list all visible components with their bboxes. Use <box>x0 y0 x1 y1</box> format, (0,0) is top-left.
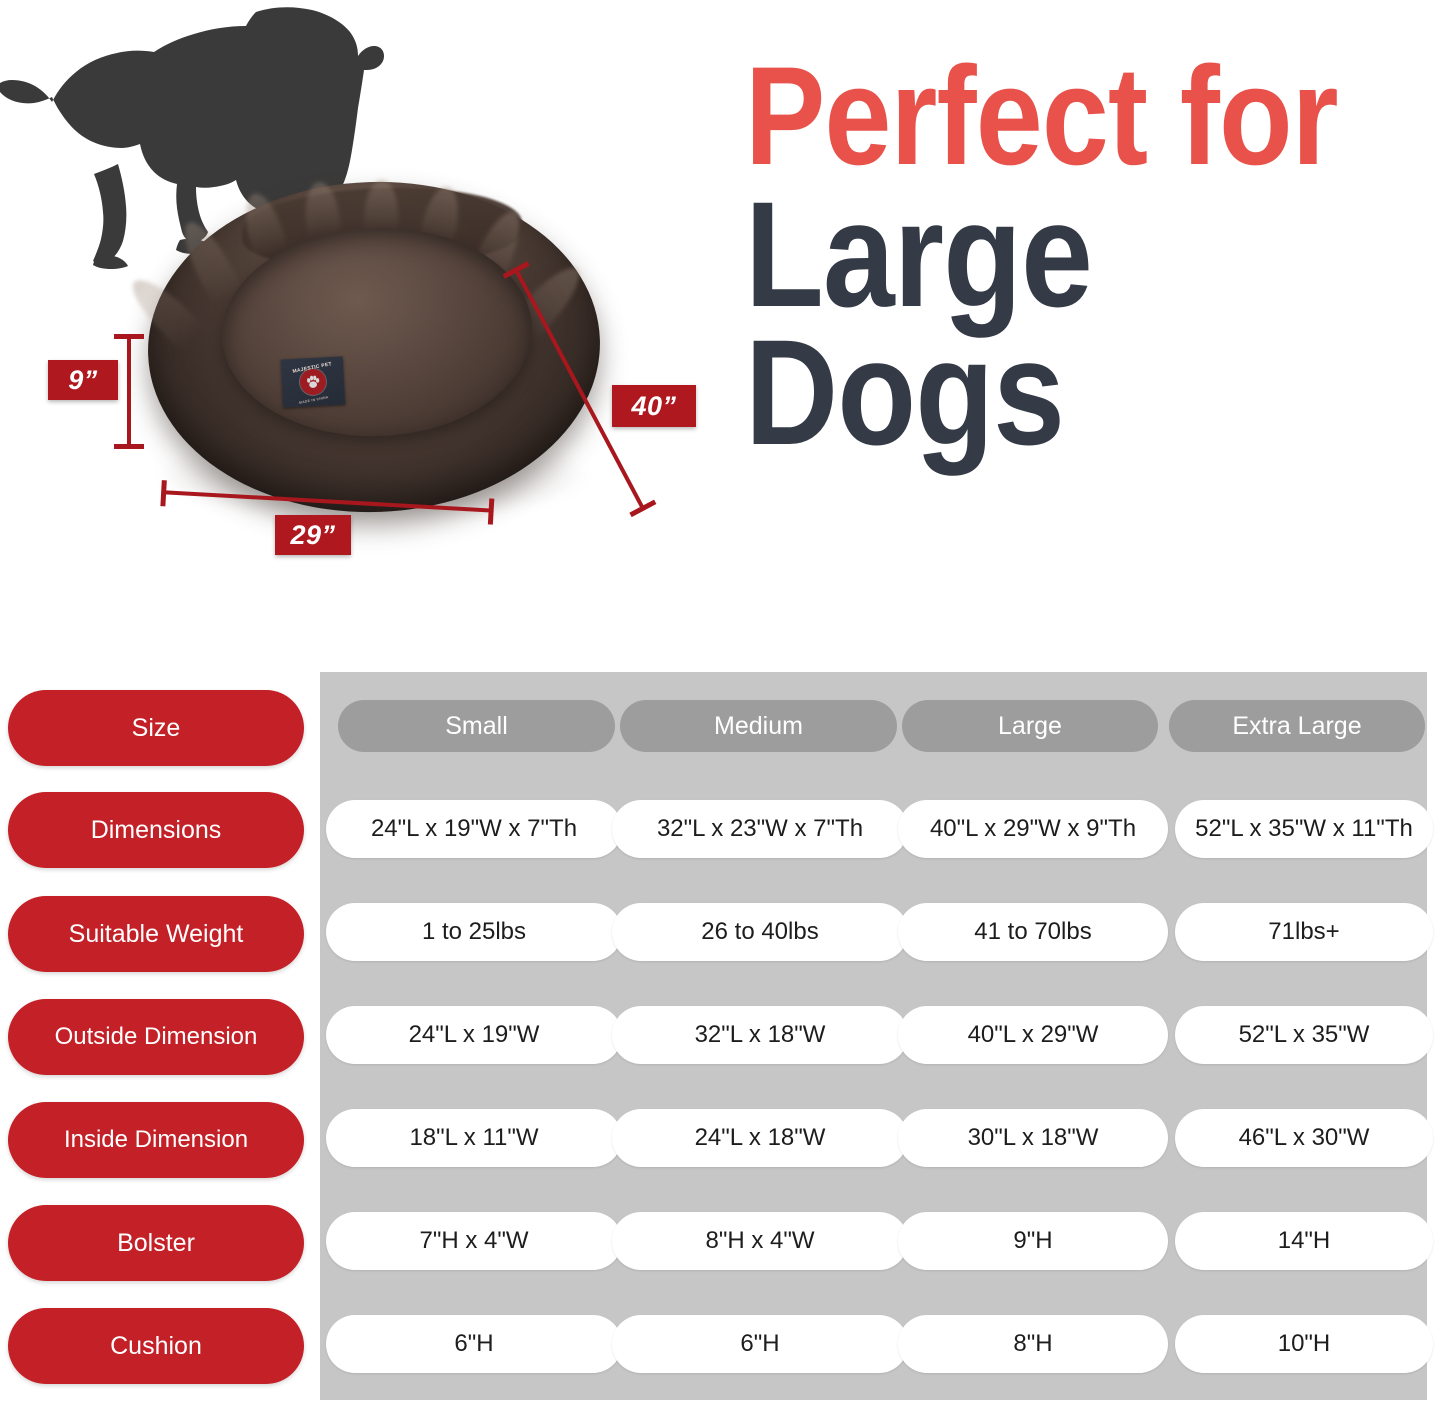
row-label-size: Size <box>8 690 304 766</box>
cell-weight-medium: 26 to 40lbs <box>612 903 908 961</box>
row-label-dimensions: Dimensions <box>8 792 304 868</box>
row-label-outside-dimension: Outside Dimension <box>8 999 304 1075</box>
cell-dimensions-extra-large: 52"L x 35"W x 11"Th <box>1175 800 1433 858</box>
cell-inside-small: 18"L x 11"W <box>326 1109 622 1167</box>
cell-weight-small: 1 to 25lbs <box>326 903 622 961</box>
cell-cushion-extra-large: 10"H <box>1175 1315 1433 1373</box>
headline-line-1: Perfect for <box>745 52 1347 181</box>
table-header-row: Small Medium Large Extra Large <box>320 700 1427 760</box>
cell-bolster-large: 9"H <box>898 1212 1168 1270</box>
length-dimension-label: 40” <box>612 385 696 427</box>
cell-cushion-small: 6"H <box>326 1315 622 1373</box>
column-header-small: Small <box>338 700 615 752</box>
row-label-column: Size Dimensions Suitable Weight Outside … <box>0 672 320 1400</box>
row-label-inside-dimension: Inside Dimension <box>8 1102 304 1178</box>
table-row: 24"L x 19"W 32"L x 18"W 40"L x 29"W 52"L… <box>320 1006 1427 1066</box>
row-label-bolster: Bolster <box>8 1205 304 1281</box>
table-row: 6"H 6"H 8"H 10"H <box>320 1315 1427 1375</box>
row-label-suitable-weight: Suitable Weight <box>8 896 304 972</box>
height-dimension-cap-top <box>114 334 144 339</box>
table-row: 7"H x 4"W 8"H x 4"W 9"H 14"H <box>320 1212 1427 1272</box>
brand-tag: MAJESTIC PET MADE IN CHINA <box>281 356 345 407</box>
width-dimension-label: 29” <box>275 515 351 555</box>
cell-dimensions-small: 24"L x 19"W x 7"Th <box>326 800 622 858</box>
cell-outside-extra-large: 52"L x 35"W <box>1175 1006 1433 1064</box>
width-dimension-line <box>163 490 493 512</box>
cell-outside-small: 24"L x 19"W <box>326 1006 622 1064</box>
cell-outside-medium: 32"L x 18"W <box>612 1006 908 1064</box>
cell-bolster-medium: 8"H x 4"W <box>612 1212 908 1270</box>
cell-bolster-small: 7"H x 4"W <box>326 1212 622 1270</box>
length-dimension-cap-bottom <box>629 500 656 518</box>
specification-table: Size Dimensions Suitable Weight Outside … <box>0 672 1445 1406</box>
height-dimension-cap-bottom <box>114 444 144 449</box>
cell-inside-medium: 24"L x 18"W <box>612 1109 908 1167</box>
brand-tag-sub: MADE IN CHINA <box>299 395 329 405</box>
column-header-large: Large <box>902 700 1158 752</box>
column-header-extra-large: Extra Large <box>1169 700 1425 752</box>
hero-section: MAJESTIC PET MADE IN CHINA 9” 29” <box>0 0 1445 672</box>
cell-bolster-extra-large: 14"H <box>1175 1212 1433 1270</box>
height-dimension-label: 9” <box>48 360 118 400</box>
table-row: 18"L x 11"W 24"L x 18"W 30"L x 18"W 46"L… <box>320 1109 1427 1169</box>
cell-dimensions-large: 40"L x 29"W x 9"Th <box>898 800 1168 858</box>
cell-dimensions-medium: 32"L x 23"W x 7"Th <box>612 800 908 858</box>
width-dimension-cap-left <box>160 480 166 506</box>
cell-weight-large: 41 to 70lbs <box>898 903 1168 961</box>
headline: Perfect for Large Dogs <box>745 52 1445 461</box>
headline-line-3: Dogs <box>745 323 1347 461</box>
row-label-cushion: Cushion <box>8 1308 304 1384</box>
width-dimension-cap-right <box>488 498 494 524</box>
cell-cushion-medium: 6"H <box>612 1315 908 1373</box>
headline-line-2: Large <box>745 185 1347 323</box>
table-row: 1 to 25lbs 26 to 40lbs 41 to 70lbs 71lbs… <box>320 903 1427 963</box>
cell-inside-extra-large: 46"L x 30"W <box>1175 1109 1433 1167</box>
cell-cushion-large: 8"H <box>898 1315 1168 1373</box>
column-header-medium: Medium <box>620 700 897 752</box>
height-dimension-line <box>127 336 131 448</box>
table-row: 24"L x 19"W x 7"Th 32"L x 23"W x 7"Th 40… <box>320 800 1427 860</box>
cell-outside-large: 40"L x 29"W <box>898 1006 1168 1064</box>
cell-inside-large: 30"L x 18"W <box>898 1109 1168 1167</box>
cell-weight-extra-large: 71lbs+ <box>1175 903 1433 961</box>
